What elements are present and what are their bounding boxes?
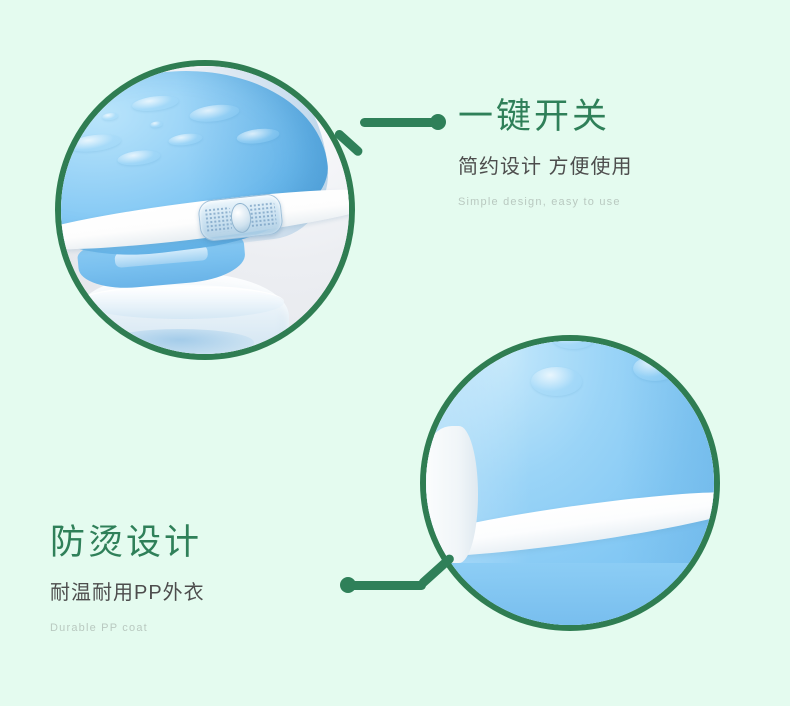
switch-texture-left xyxy=(204,206,232,233)
feature-photo-one-key-switch xyxy=(55,60,355,360)
power-switch[interactable] xyxy=(197,193,283,242)
feature-english-caption: Simple design, easy to use xyxy=(458,196,633,208)
shell-bump xyxy=(551,341,595,349)
feature-subline: 简约设计 方便使用 xyxy=(458,150,633,179)
connector-line-bottom xyxy=(340,555,470,615)
dome-bump xyxy=(67,131,121,153)
connector-endpoint-top xyxy=(430,114,446,130)
feature-text-anti-scald-design: 防烫设计 耐温耐用PP外衣 Durable PP coat xyxy=(50,524,205,634)
feature-english-caption: Durable PP coat xyxy=(50,622,205,634)
bottle-rim xyxy=(80,285,285,318)
dome-bump-small xyxy=(102,112,118,121)
feature-headline: 防烫设计 xyxy=(50,524,205,563)
connector-horizontal-bottom xyxy=(348,581,426,590)
feature-headline: 一键开关 xyxy=(458,98,633,137)
dome-bump xyxy=(132,94,180,114)
feature-text-one-key-switch: 一键开关 简约设计 方便使用 Simple design, easy to us… xyxy=(458,98,633,208)
bottle-water-highlight xyxy=(105,329,254,354)
shell-left-lip xyxy=(426,426,478,562)
photo-inner-top xyxy=(61,66,349,354)
shell-bump xyxy=(531,367,582,396)
dome-bump-small xyxy=(150,121,163,128)
connector-diagonal-top xyxy=(333,128,364,157)
switch-texture-right xyxy=(249,201,277,228)
connector-line-top xyxy=(330,105,450,165)
connector-diagonal-bottom xyxy=(417,553,456,589)
feature-subline: 耐温耐用PP外衣 xyxy=(50,576,205,605)
product-feature-banner: 一键开关 简约设计 方便使用 Simple design, easy to us… xyxy=(0,0,790,706)
dome-bump xyxy=(116,148,161,167)
